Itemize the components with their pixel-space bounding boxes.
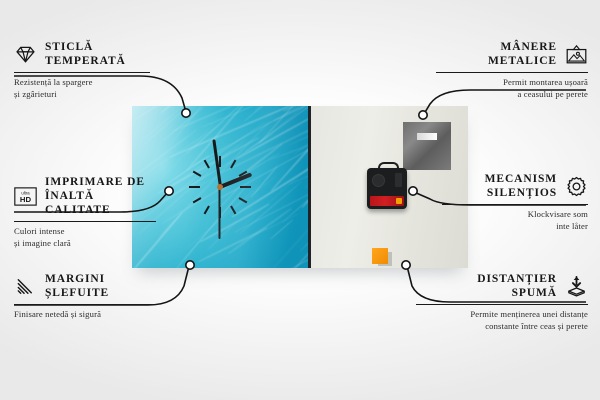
- divider: [416, 304, 588, 305]
- callout-subtitle: Klockvisare som inte låter: [442, 209, 588, 232]
- mechanism-dial: [372, 174, 385, 187]
- sub-line-2: și zgârieturi: [14, 89, 150, 100]
- title-line-2: SILENȚIOS: [485, 186, 557, 200]
- title-line-1: MÂNERE: [488, 40, 557, 54]
- callout-tempered-glass[interactable]: STICLĂ TEMPERATĂ Rezistență la spargere …: [14, 40, 150, 100]
- callout-subtitle: Rezistență la spargere și zgârieturi: [14, 77, 150, 100]
- title-line-2: ÎNALTĂ CALITATE: [45, 189, 156, 217]
- callout-header: MARGINI ȘLEFUITE: [14, 272, 154, 300]
- divider: [436, 72, 588, 73]
- callout-subtitle: Finisare netedă și sigură: [14, 309, 154, 320]
- sub-line-2: inte låter: [442, 221, 588, 232]
- title-line-1: MECANISM: [485, 172, 557, 186]
- clock-front-panel: [132, 106, 311, 268]
- sub-line-1: Permit montarea ușoară: [436, 77, 588, 88]
- divider: [442, 204, 588, 205]
- title-line-1: IMPRIMARE DE: [45, 175, 156, 189]
- callout-header: MÂNERE METALICE: [436, 40, 588, 68]
- clock-mechanism: [367, 168, 407, 209]
- title-line-1: DISTANȚIER: [477, 272, 557, 286]
- title-line-2: METALICE: [488, 54, 557, 68]
- title-line-2: TEMPERATĂ: [45, 54, 126, 68]
- gear-icon: [565, 175, 588, 198]
- sub-line-2: a ceasului pe perete: [436, 89, 588, 100]
- callout-header: ultra HD IMPRIMARE DE ÎNALTĂ CALITATE: [14, 175, 156, 217]
- callout-title: MÂNERE METALICE: [488, 40, 557, 68]
- ultra-hd-icon: ultra HD: [14, 185, 37, 208]
- callout-metal-handles[interactable]: MÂNERE METALICE Permit montarea ușoară a…: [436, 40, 588, 100]
- sub-line-1: Klockvisare som: [442, 209, 588, 220]
- callout-header: MECANISM SILENȚIOS: [442, 172, 588, 200]
- clock-center-pivot: [217, 184, 223, 190]
- picture-hanger-icon: [565, 43, 588, 66]
- callout-silent-mechanism[interactable]: MECANISM SILENȚIOS Klockvisare som inte …: [442, 172, 588, 232]
- title-line-2: ȘLEFUITE: [45, 286, 109, 300]
- divider: [14, 304, 154, 305]
- callout-foam-spacer[interactable]: DISTANȚIER SPUMĂ Permite menținerea unei…: [416, 272, 588, 332]
- callout-title: STICLĂ TEMPERATĂ: [45, 40, 126, 68]
- divider: [14, 72, 150, 73]
- title-line-2: SPUMĂ: [477, 286, 557, 300]
- callout-title: DISTANȚIER SPUMĂ: [477, 272, 557, 300]
- callout-subtitle: Permit montarea ușoară a ceasului pe per…: [436, 77, 588, 100]
- diamond-icon: [14, 43, 37, 66]
- infographic-canvas: STICLĂ TEMPERATĂ Rezistență la spargere …: [0, 0, 600, 400]
- callout-title: MECANISM SILENȚIOS: [485, 172, 557, 200]
- callout-title: MARGINI ȘLEFUITE: [45, 272, 109, 300]
- battery: [370, 196, 404, 206]
- sub-line-1: Culori intense: [14, 226, 156, 237]
- sub-line-2: și imagine clară: [14, 238, 156, 249]
- title-line-1: STICLĂ: [45, 40, 126, 54]
- svg-text:HD: HD: [20, 195, 32, 204]
- callout-title: IMPRIMARE DE ÎNALTĂ CALITATE: [45, 175, 156, 217]
- sub-line-1: Permite menținerea unei distanțe: [416, 309, 588, 320]
- product-image: [132, 106, 468, 268]
- foam-spacer: [372, 248, 388, 264]
- callout-subtitle: Culori intense și imagine clară: [14, 226, 156, 249]
- polished-edges-icon: [14, 275, 37, 298]
- divider: [14, 221, 156, 222]
- callout-subtitle: Permite menținerea unei distanțe constan…: [416, 309, 588, 332]
- callout-polished-edges[interactable]: MARGINI ȘLEFUITE Finisare netedă și sigu…: [14, 272, 154, 321]
- mechanism-slot: [395, 173, 402, 187]
- sub-line-1: Finisare netedă și sigură: [14, 309, 154, 320]
- callout-header: DISTANȚIER SPUMĂ: [416, 272, 588, 300]
- title-line-1: MARGINI: [45, 272, 109, 286]
- foam-spacer-icon: [565, 275, 588, 298]
- metal-hanger-plate: [403, 122, 451, 170]
- clock-face: [132, 106, 308, 268]
- callout-print-quality[interactable]: ultra HD IMPRIMARE DE ÎNALTĂ CALITATE Cu…: [14, 175, 156, 249]
- sub-line-2: constante între ceas și perete: [416, 321, 588, 332]
- sub-line-1: Rezistență la spargere: [14, 77, 150, 88]
- callout-header: STICLĂ TEMPERATĂ: [14, 40, 150, 68]
